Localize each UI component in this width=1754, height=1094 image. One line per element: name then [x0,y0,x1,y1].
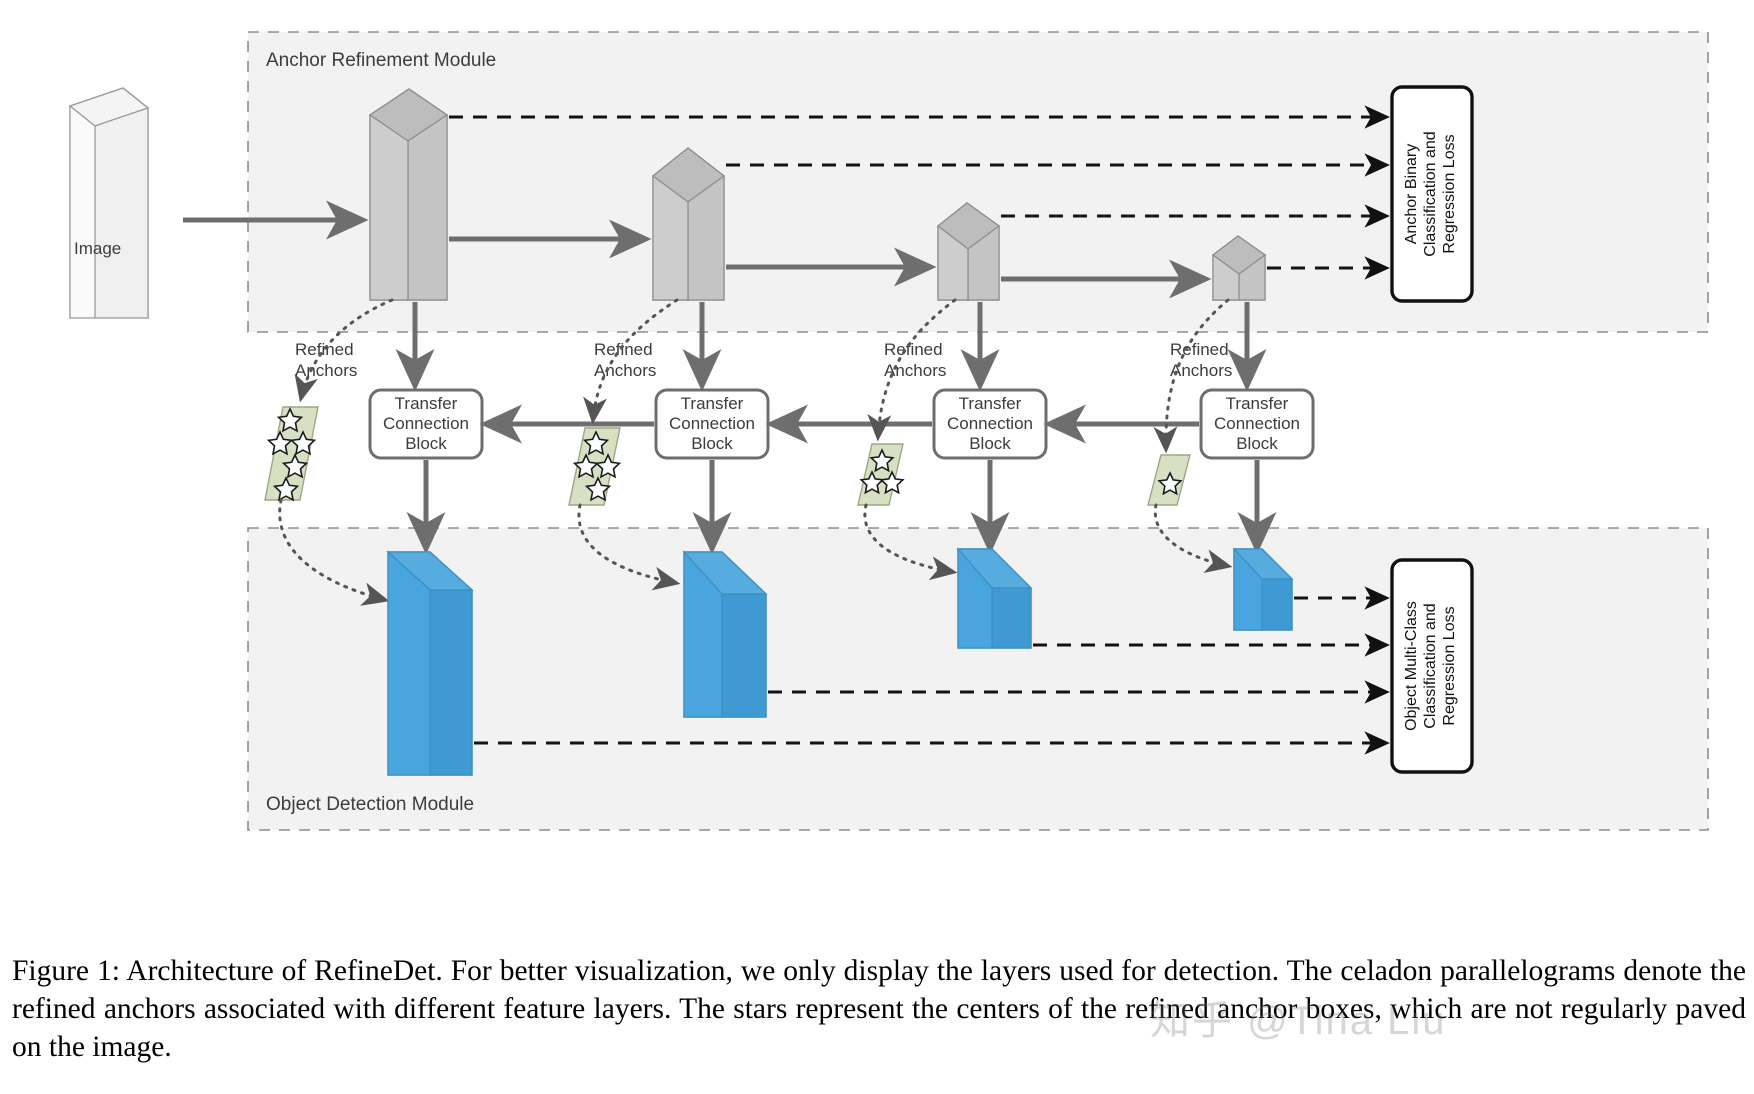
anchor-refinement-module-label: Anchor Refinement Module [266,50,496,71]
refined-anchor-parallelogram-3 [858,444,903,505]
refined-anchors-3-line-2: Anchors [884,361,946,380]
odm-feature-block-1 [388,552,472,775]
tcb-1-line-2: Connection [383,414,469,433]
tcb-2-line-2: Connection [669,414,755,433]
arm-loss-line-2: Classification and [1422,131,1439,256]
odm-loss-line-2: Classification and [1422,603,1439,728]
tcb-2-line-3: Block [691,434,733,453]
refined-anchors-4-line-1: Refined [1170,340,1229,359]
refined-anchors-label-2: Refined Anchors [594,340,656,380]
figure-caption: Figure 1: Architecture of RefineDet. For… [12,952,1746,1066]
tcb-1-line-3: Block [405,434,447,453]
image-label: Image [74,239,121,258]
refined-anchor-parallelogram-2 [569,428,620,505]
transfer-connection-block-1[interactable]: Transfer Connection Block [370,390,482,458]
refined-anchors-1-line-1: Refined [295,340,354,359]
refined-anchors-label-3: Refined Anchors [884,340,946,380]
arm-feature-block-2 [653,148,724,300]
tcb-4-line-1: Transfer [1226,394,1289,413]
refined-anchor-parallelogram-1 [265,407,318,500]
refinedet-architecture-diagram: Anchor Refinement Module Object Detectio… [0,0,1754,945]
refined-anchors-1-line-2: Anchors [295,361,357,380]
tcb-3-line-2: Connection [947,414,1033,433]
refined-anchors-3-line-1: Refined [884,340,943,359]
object-detection-module-label: Object Detection Module [266,794,474,815]
transfer-connection-block-4[interactable]: Transfer Connection Block [1201,390,1313,458]
tcb-3-line-3: Block [969,434,1011,453]
arm-loss-line-3: Regression Loss [1441,134,1458,253]
tcb-1-line-1: Transfer [395,394,458,413]
figure-refinedet: Anchor Refinement Module Object Detectio… [0,0,1754,1094]
arm-loss-line-1: Anchor Binary [1403,144,1420,245]
transfer-connection-block-2[interactable]: Transfer Connection Block [656,390,768,458]
refined-anchors-2-line-1: Refined [594,340,653,359]
tcb-2-line-1: Transfer [681,394,744,413]
input-image-block: Image [70,88,148,318]
refined-anchors-label-4: Refined Anchors [1170,340,1232,380]
transfer-connection-block-3[interactable]: Transfer Connection Block [934,390,1046,458]
tcb-4-line-2: Connection [1214,414,1300,433]
arm-feature-block-1 [370,89,447,300]
tcb-3-line-1: Transfer [959,394,1022,413]
odm-loss-line-1: Object Multi-Class [1403,601,1420,731]
refined-anchor-parallelogram-4 [1148,455,1190,505]
odm-loss-line-3: Regression Loss [1441,606,1458,725]
tcb-4-line-3: Block [1236,434,1278,453]
